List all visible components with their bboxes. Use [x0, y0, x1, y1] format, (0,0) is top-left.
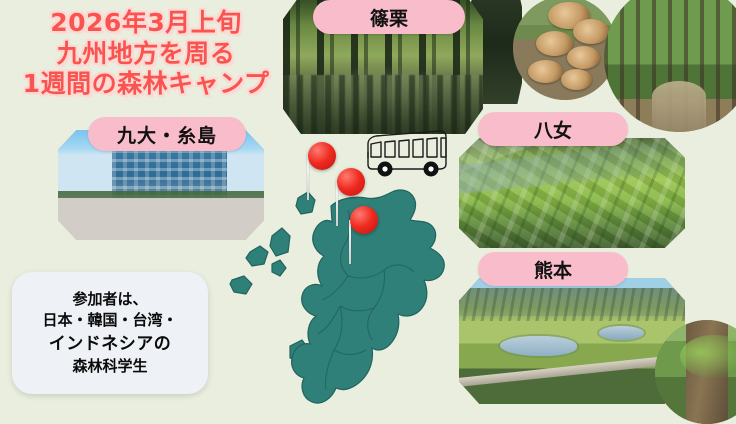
forest-path-image [604, 0, 736, 132]
note-line-4: 森林科学生 [72, 356, 147, 377]
yame-image [459, 138, 685, 248]
note-line-3: インドネシアの [49, 332, 172, 356]
kumamoto-road [459, 353, 685, 388]
note-line-1: 参加者は、 [72, 289, 147, 310]
note-line-2: 日本・韓国・台湾・ [42, 310, 177, 331]
poster-title: 2026年3月上旬 九州地方を周る 1週間の森林キャンプ [6, 8, 286, 100]
kyudai-stone-sign: 九州大学 [145, 207, 227, 238]
kyudai-sign-text: 九州大学 [145, 207, 227, 238]
participants-note: 参加者は、 日本・韓国・台湾・ インドネシアの 森林科学生 [12, 272, 208, 394]
title-line-1: 2026年3月上旬 [6, 8, 286, 39]
photo-mossy-tree [655, 320, 736, 424]
bus-icon [362, 128, 450, 182]
title-line-2: 九州地方を周る [6, 39, 286, 70]
label-kyudai[interactable]: 九大・糸島 [88, 117, 246, 151]
label-kumamoto[interactable]: 熊本 [478, 252, 628, 286]
poster-canvas: 九州大学 [0, 0, 736, 414]
pin-head [308, 142, 336, 170]
photo-yame [459, 138, 685, 248]
pin-head [337, 168, 365, 196]
label-yame[interactable]: 八女 [478, 112, 628, 146]
mossy-tree-image [655, 320, 736, 424]
logs-image [513, 0, 617, 100]
kumamoto-ridge [459, 288, 685, 321]
pin-head [350, 206, 378, 234]
photo-forest-path [604, 0, 736, 132]
kumamoto-image [459, 278, 685, 404]
title-line-3: 1週間の森林キャンプ [6, 69, 286, 100]
photo-logs [513, 0, 617, 100]
photo-kumamoto [459, 278, 685, 404]
label-sasaguri[interactable]: 篠栗 [313, 0, 465, 34]
